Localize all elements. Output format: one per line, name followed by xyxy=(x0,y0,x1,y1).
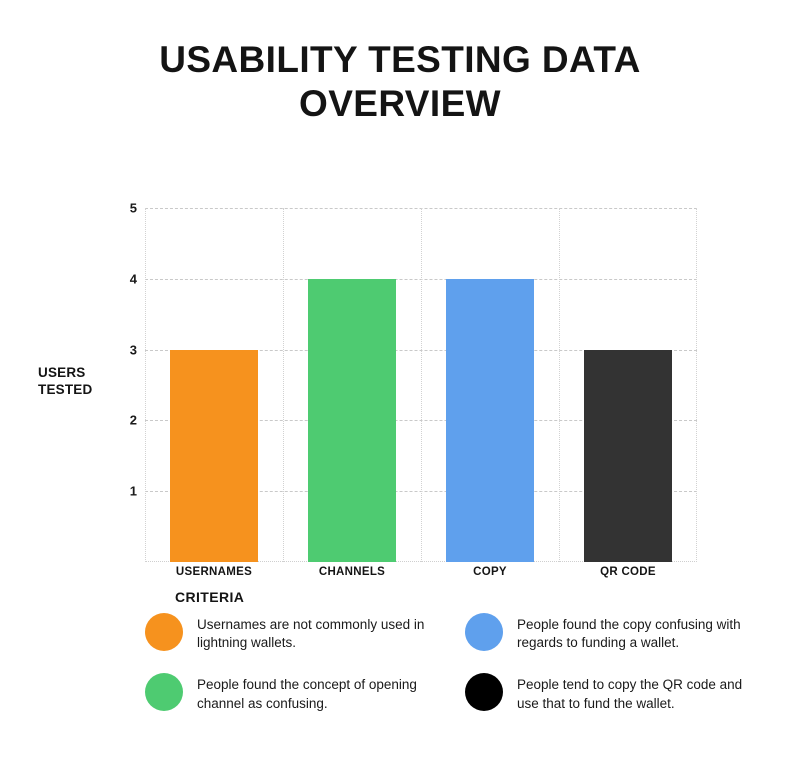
page-title: USABILITY TESTING DATA OVERVIEW xyxy=(0,38,800,125)
x-axis-tick-label: USERNAMES xyxy=(176,566,252,578)
x-axis-label: CRITERIA xyxy=(175,589,244,605)
legend-color-circle-icon xyxy=(145,613,183,651)
bar-usernames[interactable] xyxy=(170,350,258,562)
y-axis-ticks: 54321 xyxy=(105,208,137,562)
bar-copy[interactable] xyxy=(446,279,534,562)
y-axis-tick-label: 4 xyxy=(105,271,137,286)
legend-item-label: People found the concept of opening chan… xyxy=(197,672,432,712)
x-axis-ticks: USERNAMESCHANNELSCOPYQR CODE xyxy=(145,566,697,586)
legend-item[interactable]: People found the concept of opening chan… xyxy=(145,672,445,712)
y-axis-tick-label: 3 xyxy=(105,342,137,357)
x-axis-tick-label: CHANNELS xyxy=(319,566,385,578)
chart-title: USABILITY TESTING DATA OVERVIEW xyxy=(0,38,800,125)
chart-legend: Usernames are not commonly used in light… xyxy=(145,612,765,713)
legend-item[interactable]: Usernames are not commonly used in light… xyxy=(145,612,445,652)
y-axis-label-line-2: TESTED xyxy=(38,382,92,397)
legend-item[interactable]: People tend to copy the QR code and use … xyxy=(465,672,765,712)
legend-color-circle-icon xyxy=(145,673,183,711)
bar-qr-code[interactable] xyxy=(584,350,672,562)
legend-item-label: People found the copy confusing with reg… xyxy=(517,612,752,652)
x-axis-tick-label: QR CODE xyxy=(600,566,656,578)
chart-title-line-2: OVERVIEW xyxy=(299,83,501,124)
legend-item-label: Usernames are not commonly used in light… xyxy=(197,612,432,652)
y-axis-tick-label: 2 xyxy=(105,413,137,428)
bar-channels[interactable] xyxy=(308,279,396,562)
legend-color-circle-icon xyxy=(465,673,503,711)
legend-item[interactable]: People found the copy confusing with reg… xyxy=(465,612,765,652)
chart-title-line-1: USABILITY TESTING DATA xyxy=(159,39,641,80)
plot-area xyxy=(145,208,697,562)
y-axis-label-line-1: USERS xyxy=(38,365,86,380)
y-axis-tick-label: 1 xyxy=(105,484,137,499)
bar-series xyxy=(145,208,697,562)
y-axis-label: USERS TESTED xyxy=(38,365,104,399)
legend-item-label: People tend to copy the QR code and use … xyxy=(517,672,752,712)
x-axis-tick-label: COPY xyxy=(473,566,507,578)
legend-color-circle-icon xyxy=(465,613,503,651)
y-axis-tick-label: 5 xyxy=(105,201,137,216)
